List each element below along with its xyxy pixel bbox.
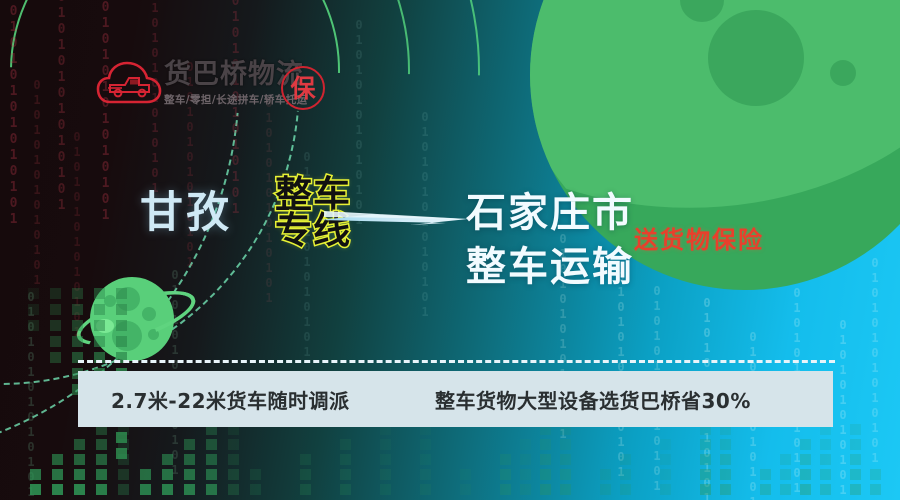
grid-square — [206, 484, 217, 495]
grid-square — [850, 469, 861, 480]
binary-column: 01010101010101 — [54, 0, 69, 214]
grid-square — [460, 484, 471, 495]
grid-square — [340, 439, 351, 450]
binary-column: 01010101010101 — [70, 130, 84, 340]
grid-square — [96, 454, 107, 465]
grid-square — [420, 454, 431, 465]
grid-square — [540, 469, 551, 480]
grid-square — [140, 469, 151, 480]
grid-square — [300, 454, 311, 465]
planet-crater — [116, 287, 140, 311]
grid-square — [184, 454, 195, 465]
grid-square — [380, 439, 391, 450]
grid-square — [340, 484, 351, 495]
grid-square — [520, 454, 531, 465]
grid-square — [96, 469, 107, 480]
grid-square — [540, 454, 551, 465]
binary-column: 01010101010101 — [868, 256, 882, 466]
grid-square — [52, 484, 63, 495]
grid-square — [760, 469, 771, 480]
brand-logo: 货巴桥物流 整车/零担/长途拼车/轿车托运 — [96, 58, 308, 110]
grid-square — [96, 439, 107, 450]
grid-square — [720, 454, 731, 465]
planet-crater — [104, 295, 116, 307]
bottom-bar-right-text: 整车货物大型设备选货巴桥省30% — [435, 385, 751, 414]
grid-square — [340, 454, 351, 465]
grid-square — [206, 439, 217, 450]
square-grid-bottom-decor — [0, 424, 900, 500]
insurance-note: 送货物保险 — [634, 228, 764, 252]
grid-square — [380, 484, 391, 495]
grid-square — [206, 469, 217, 480]
grid-square — [520, 439, 531, 450]
grid-square — [206, 454, 217, 465]
insurance-seal-badge: 保 — [281, 66, 325, 110]
grid-square — [520, 469, 531, 480]
grid-square — [870, 484, 881, 495]
grid-square — [560, 484, 571, 495]
cloud-truck-icon — [96, 58, 162, 110]
grid-square — [50, 320, 61, 331]
binary-column: 01010101010101 — [6, 4, 21, 228]
grid-square — [184, 439, 195, 450]
grid-square — [74, 439, 85, 450]
grid-square — [820, 469, 831, 480]
grid-square — [820, 454, 831, 465]
grid-square — [50, 336, 61, 347]
planet-crater — [112, 321, 142, 351]
grid-square — [340, 469, 351, 480]
grid-square — [520, 484, 531, 495]
grid-square — [600, 469, 611, 480]
grid-square — [50, 288, 61, 299]
grid-square — [820, 439, 831, 450]
grid-square — [540, 439, 551, 450]
binary-column: 01010101010101 — [98, 0, 113, 224]
grid-square — [116, 432, 127, 443]
grid-square — [380, 454, 391, 465]
grid-square — [720, 484, 731, 495]
grid-square — [420, 484, 431, 495]
destination-line-1: 石家庄市 — [466, 186, 634, 240]
grid-square — [250, 469, 261, 480]
grid-square — [50, 304, 61, 315]
grid-square — [250, 484, 261, 495]
grid-square — [162, 484, 173, 495]
grid-square — [300, 484, 311, 495]
grid-square — [228, 454, 239, 465]
grid-square — [760, 484, 771, 495]
grid-square — [140, 484, 151, 495]
grid-square — [500, 469, 511, 480]
origin-city: 甘孜 — [140, 192, 232, 235]
grid-square — [184, 469, 195, 480]
grid-square — [870, 469, 881, 480]
binary-column: 01010101010101 — [30, 78, 44, 288]
grid-square — [380, 469, 391, 480]
planet-crater — [830, 60, 856, 86]
grid-square — [820, 484, 831, 495]
grid-square — [600, 484, 611, 495]
grid-square — [420, 439, 431, 450]
binary-column: 01010101010101 — [836, 318, 850, 500]
grid-square — [540, 484, 551, 495]
grid-square — [850, 439, 861, 450]
grid-square — [500, 454, 511, 465]
grid-square — [850, 454, 861, 465]
grid-square — [74, 454, 85, 465]
grid-square — [74, 469, 85, 480]
grid-square — [720, 439, 731, 450]
grid-square — [228, 469, 239, 480]
grid-square — [850, 424, 861, 435]
planet-crater — [708, 10, 804, 106]
grid-square — [96, 484, 107, 495]
promo-banner: 01010101010101 01010101010101 0101010101… — [0, 0, 900, 500]
grid-square — [50, 352, 61, 363]
grid-square — [300, 469, 311, 480]
bottom-info-bar: 2.7米-22米货车随时调派 整车货物大型设备选货巴桥省30% — [78, 371, 833, 427]
grid-square — [500, 484, 511, 495]
grid-square — [420, 469, 431, 480]
grid-square — [560, 469, 571, 480]
dashed-divider — [78, 360, 835, 363]
grid-square — [228, 439, 239, 450]
planet-small-highlight — [96, 319, 114, 333]
grid-square — [116, 448, 127, 459]
grid-square — [560, 454, 571, 465]
grid-square — [460, 469, 471, 480]
grid-square — [52, 469, 63, 480]
grid-square — [118, 469, 129, 480]
grid-square — [850, 484, 861, 495]
binary-column: 01010101010101 — [24, 290, 38, 500]
grid-square — [620, 484, 631, 495]
grid-square — [74, 484, 85, 495]
grid-square — [118, 484, 129, 495]
destination-city: 石家庄市 整车运输 — [466, 186, 634, 294]
grid-square — [184, 484, 195, 495]
grid-square — [720, 469, 731, 480]
grid-square — [118, 454, 129, 465]
destination-line-2: 整车运输 — [466, 240, 634, 294]
arrow-right-icon — [318, 198, 478, 240]
grid-square — [52, 454, 63, 465]
grid-square — [118, 439, 129, 450]
grid-square — [228, 484, 239, 495]
bottom-bar-left-text: 2.7米-22米货车随时调派 — [111, 385, 350, 414]
